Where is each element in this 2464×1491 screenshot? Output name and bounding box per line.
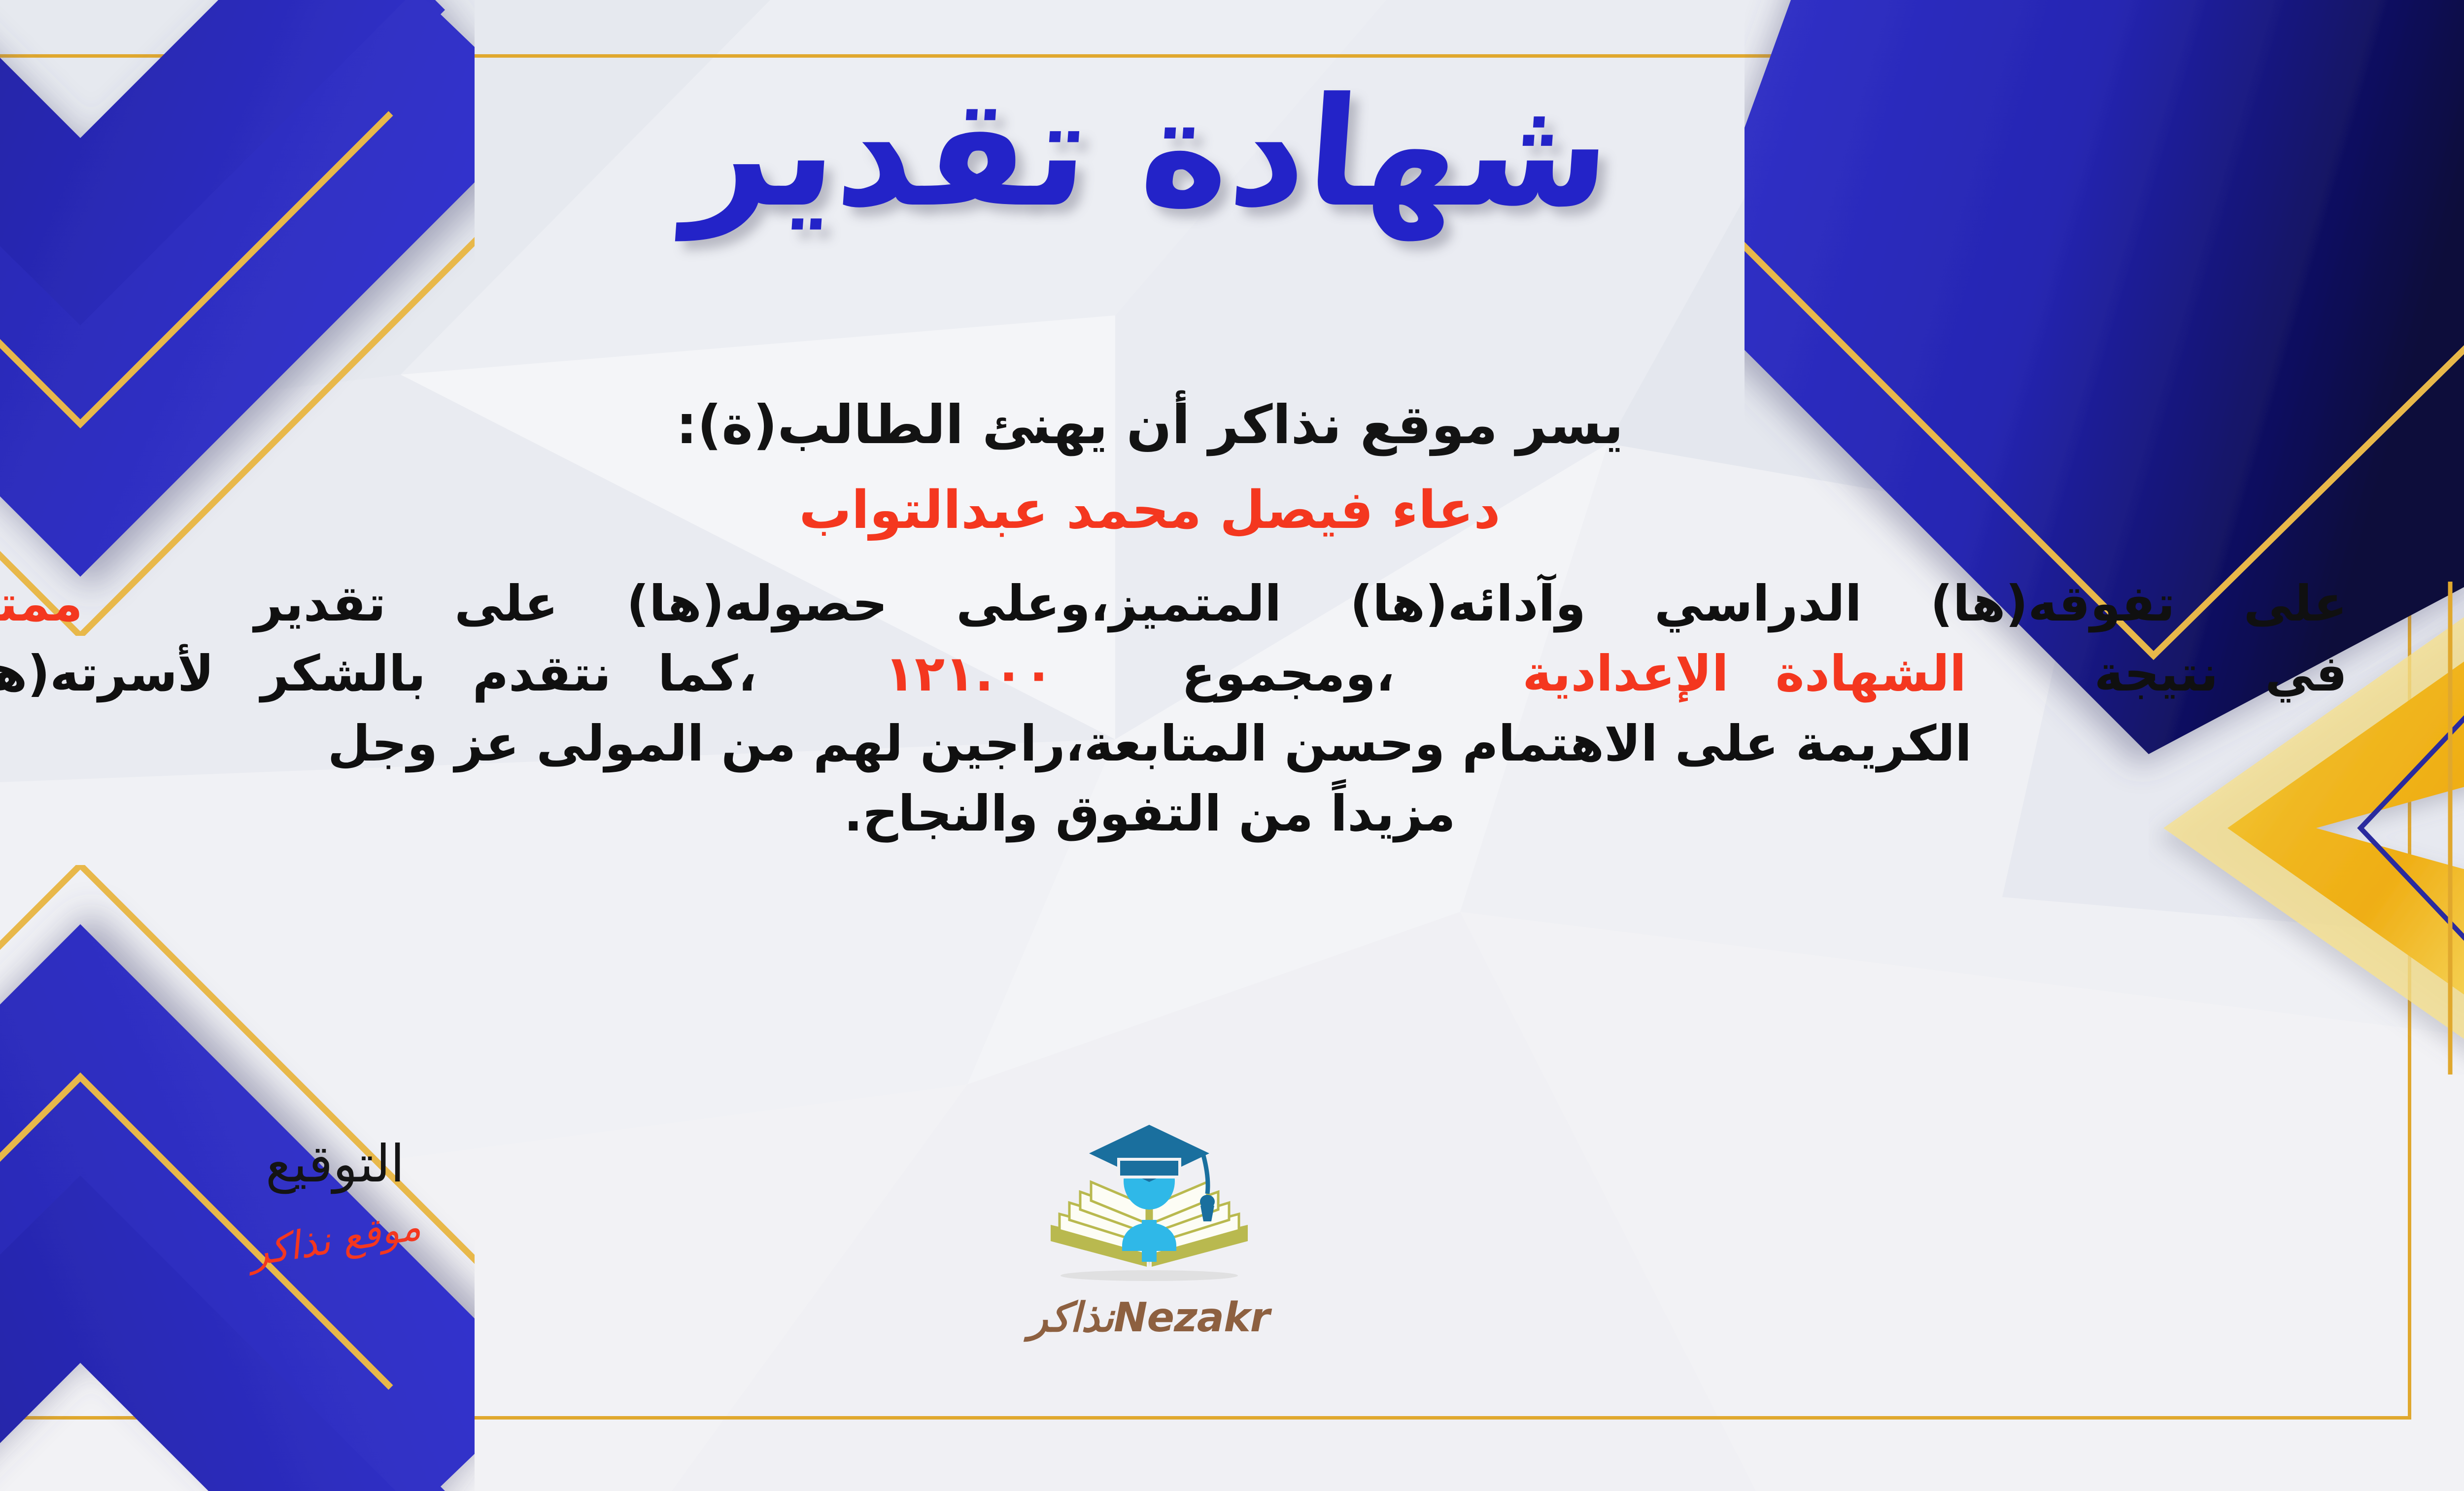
citation-line-4: مزيداً من التفوق والنجاح. bbox=[0, 779, 2347, 849]
signature-block: التوقيع موقع نذاكر bbox=[148, 1134, 522, 1262]
signature-handwriting: موقع نذاكر bbox=[246, 1204, 424, 1275]
citation-line-3: الكريمة على الاهتمام وحسن المتابعة،راجين… bbox=[0, 709, 2347, 779]
citation-text-a: على تفوقه(ها) الدراسي وآدائه(ها) المتميز… bbox=[254, 575, 2347, 632]
citation-text-b: في نتيجة bbox=[2094, 645, 2347, 702]
citation-line-1: على تفوقه(ها) الدراسي وآدائه(ها) المتميز… bbox=[0, 569, 2347, 639]
citation-text-c: ،ومجموع bbox=[1182, 645, 1395, 702]
page-title: شهادة تقدير bbox=[682, 74, 1616, 232]
citation-paragraph: على تفوقه(ها) الدراسي وآدائه(ها) المتميز… bbox=[0, 569, 2377, 849]
graduate-open-book-icon bbox=[1036, 1119, 1263, 1291]
citation-text-d: ،كما نتقدم بالشكر لأسرته(ها) bbox=[0, 645, 757, 702]
intro-line: يسر موقع نذاكر أن يهنئ الطالب(ة): bbox=[0, 394, 2377, 456]
total-score: ١٢١.٠٠ bbox=[885, 645, 1054, 702]
grade-value: ممتاز bbox=[0, 575, 83, 632]
certificate-body: يسر موقع نذاكر أن يهنئ الطالب(ة): دعاء ف… bbox=[0, 394, 2377, 849]
brand-wordmark: Nezakrنذاكر bbox=[962, 1294, 1336, 1341]
signature-label: التوقيع bbox=[148, 1134, 522, 1194]
certificate-canvas: شهادة تقدير يسر موقع نذاكر أن يهنئ الطال… bbox=[0, 0, 2464, 1491]
exam-name: الشهادة الإعدادية bbox=[1522, 645, 1966, 702]
brand-logo-block: Nezakrنذاكر bbox=[962, 1119, 1336, 1341]
certificate-title-area: شهادة تقدير bbox=[0, 74, 2464, 232]
brand-name-arabic: نذاكر bbox=[1028, 1294, 1114, 1341]
student-name: دعاء فيصل محمد عبدالتواب bbox=[0, 480, 2377, 540]
brand-name-latin: Nezakr bbox=[1114, 1294, 1269, 1341]
citation-line-2: في نتيجة الشهادة الإعدادية ،ومجموع ١٢١.٠… bbox=[0, 639, 2347, 709]
